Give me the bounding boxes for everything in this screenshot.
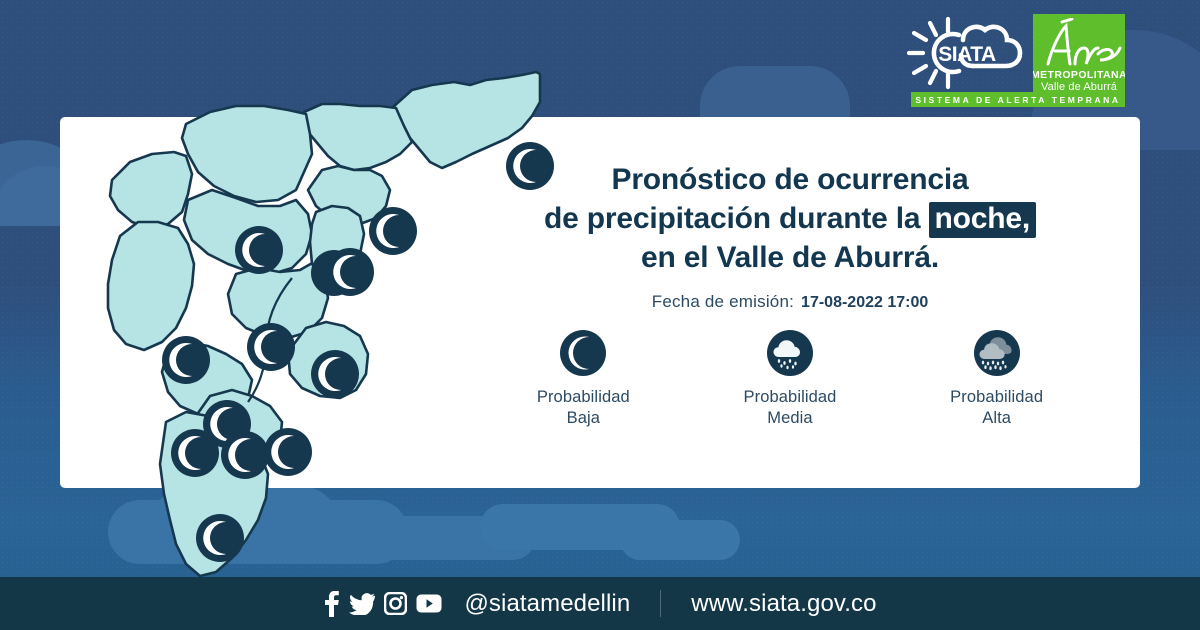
siata-wordmark: SIATA xyxy=(938,43,996,66)
map-marker-san-pedro[interactable] xyxy=(235,226,283,274)
headline-line-3: en el Valle de Aburrá. xyxy=(455,238,1125,277)
footer-bar: @siatamedellin www.siata.gov.co xyxy=(0,577,1200,630)
moon-icon xyxy=(369,207,417,255)
region-girardota xyxy=(304,104,412,170)
emission-date-value: 17-08-2022 17:00 xyxy=(801,294,928,312)
legend-label-line1: Probabilidad xyxy=(496,387,671,408)
legend-label-line2: Alta xyxy=(909,408,1084,429)
region-medellin-west xyxy=(108,222,194,350)
map-municipality-shapes xyxy=(108,72,540,576)
tagline-text: SISTEMA DE ALERTA TEMPRANA xyxy=(915,95,1120,105)
moon-icon xyxy=(247,323,295,371)
legend-item-alta[interactable]: Probabilidad Alta xyxy=(909,330,1084,430)
area-metropolitana-logo[interactable]: METROPOLITANA Valle de Aburrá xyxy=(1033,14,1125,102)
social-handle[interactable]: @siatamedellin xyxy=(464,590,630,618)
map-marker-copacabana[interactable] xyxy=(326,248,374,296)
region-san-pedro xyxy=(182,106,312,202)
map-marker-medellin[interactable] xyxy=(311,350,359,398)
cloud-heavy-rain-icon xyxy=(974,330,1020,376)
aburra-valley-map[interactable]: N xyxy=(60,50,540,580)
legend-item-media[interactable]: Probabilidad Media xyxy=(702,330,877,430)
map-marker-sabaneta[interactable] xyxy=(221,431,269,479)
legend-label-line1: Probabilidad xyxy=(702,387,877,408)
instagram-icon[interactable] xyxy=(384,592,407,615)
map-marker-medellin-norte[interactable] xyxy=(162,336,210,384)
facebook-icon[interactable] xyxy=(323,591,340,617)
map-marker-envigado[interactable] xyxy=(264,428,312,476)
website-url[interactable]: www.siata.gov.co xyxy=(691,590,876,618)
cloud-rain-moon-icon xyxy=(767,330,813,376)
moon-icon xyxy=(162,336,210,384)
social-icon-group xyxy=(323,591,442,617)
probability-legend: Probabilidad Baja xyxy=(480,330,1100,430)
headline-block: Pronóstico de ocurrencia de precipitació… xyxy=(455,160,1125,312)
tagline-bar: SISTEMA DE ALERTA TEMPRANA xyxy=(911,92,1125,107)
background-cloud-bottom-e xyxy=(620,520,740,560)
legend-label-line2: Baja xyxy=(496,408,671,429)
moon-icon xyxy=(171,429,219,477)
siata-logo[interactable]: SIATA xyxy=(903,14,1025,92)
moon-icon xyxy=(196,514,244,562)
legend-label-line2: Media xyxy=(702,408,877,429)
infographic-canvas: SIATA METROPOLITANA Valle de Aburrá SIST… xyxy=(0,0,1200,630)
region-far-northwest xyxy=(110,152,192,228)
moon-icon xyxy=(326,248,374,296)
map-marker-girardota[interactable] xyxy=(369,207,417,255)
moon-icon xyxy=(311,350,359,398)
area-script-icon xyxy=(1036,18,1122,70)
emission-date-row: Fecha de emisión: 17-08-2022 17:00 xyxy=(455,292,1125,312)
headline-line-1: Pronóstico de ocurrencia xyxy=(455,160,1125,199)
moon-icon xyxy=(221,431,269,479)
twitter-icon[interactable] xyxy=(349,593,375,615)
map-marker-caldas[interactable] xyxy=(196,514,244,562)
logo-group: SIATA METROPOLITANA Valle de Aburrá xyxy=(903,14,1125,102)
legend-item-baja[interactable]: Probabilidad Baja xyxy=(496,330,671,430)
map-marker-la-estrella[interactable] xyxy=(171,429,219,477)
moon-icon xyxy=(235,226,283,274)
youtube-icon[interactable] xyxy=(416,594,442,613)
emission-date-label: Fecha de emisión: xyxy=(652,292,794,312)
legend-label-line1: Probabilidad xyxy=(909,387,1084,408)
moon-icon xyxy=(264,428,312,476)
headline-highlight-noche: noche, xyxy=(929,202,1036,238)
headline-line-2-text: de precipitación durante la xyxy=(544,202,920,235)
map-marker-bello[interactable] xyxy=(247,323,295,371)
area-logo-line1: METROPOLITANA xyxy=(1033,70,1125,81)
moon-icon xyxy=(560,330,606,376)
headline-line-2: de precipitación durante la noche, xyxy=(455,199,1125,238)
footer-divider xyxy=(660,590,661,617)
